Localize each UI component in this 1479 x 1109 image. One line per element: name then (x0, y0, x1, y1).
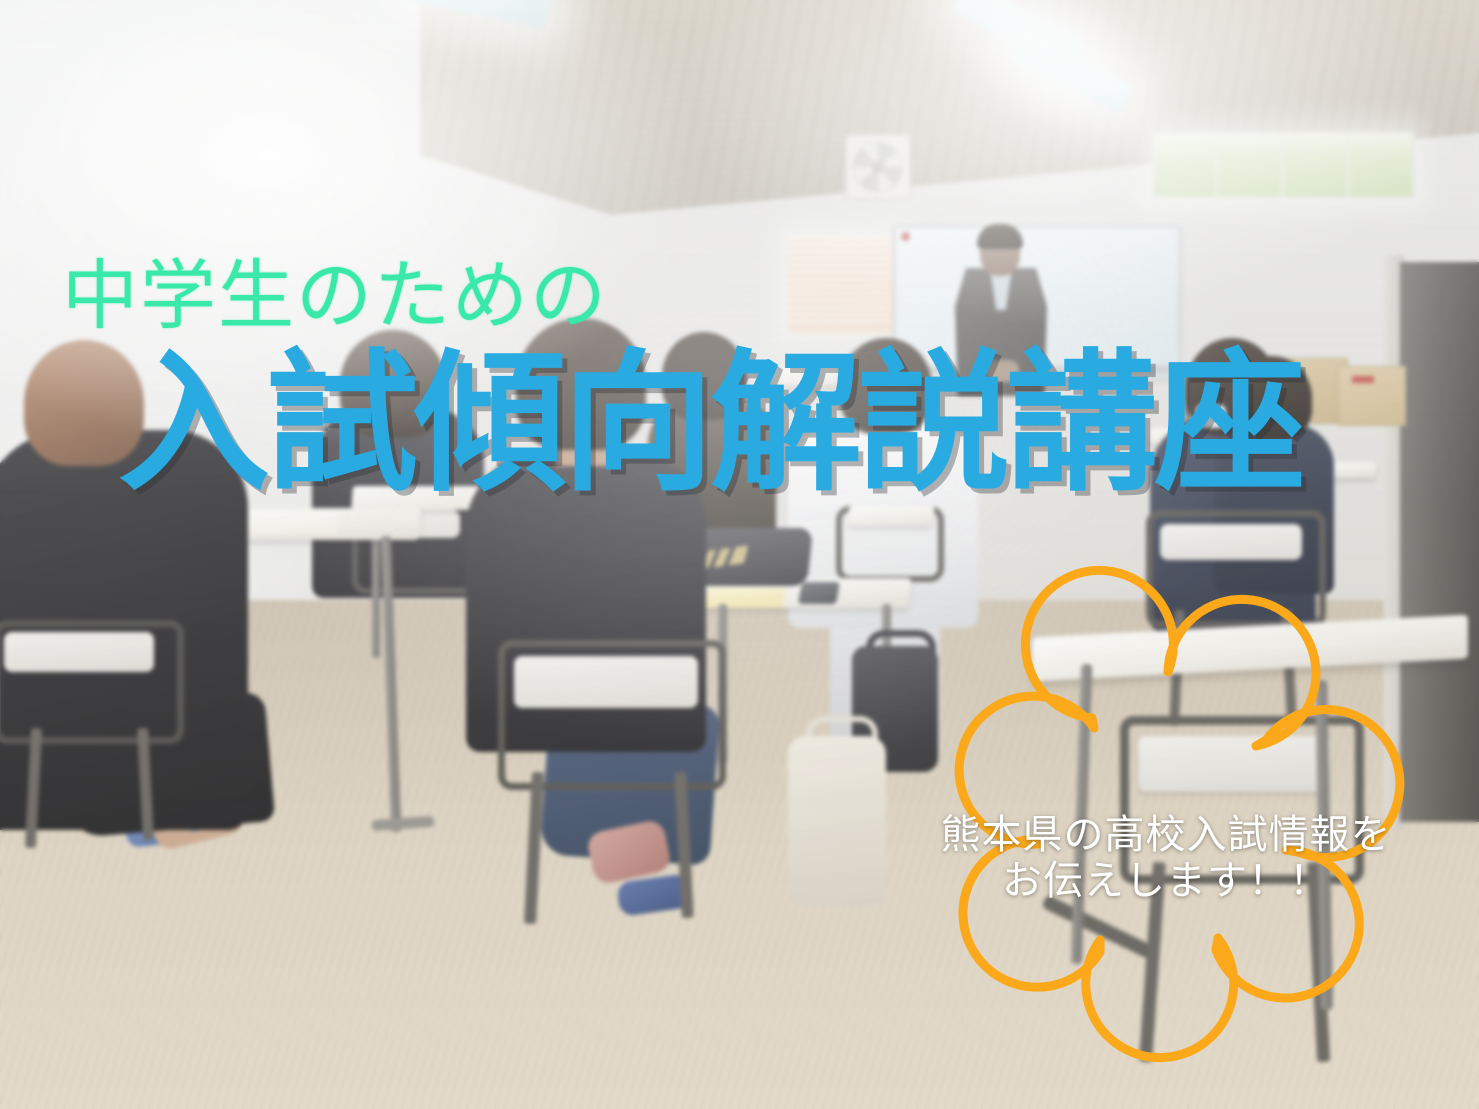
whiteboard-magnet-icon (901, 232, 910, 241)
cardboard-box (1338, 366, 1406, 426)
notebook-paper (704, 588, 786, 608)
folding-chair-seat (514, 656, 698, 708)
callout-text: 熊本県の高校入試情報を お伝えします！！ (906, 812, 1426, 905)
poster-subtitle: 中学生のための (62, 258, 608, 334)
high-window (1152, 131, 1415, 199)
poster-canvas: 中学生のための 入試傾向解説講座 熊本県の高校入試情報を お伝えします！！ (0, 0, 1479, 1109)
window-blind (788, 236, 890, 325)
flower-callout: 熊本県の高校入試情報を お伝えします！！ (906, 636, 1426, 1076)
exhaust-fan-icon (852, 141, 904, 193)
folding-chair-seat (4, 632, 154, 672)
poster-headline: 入試傾向解説講座 (118, 348, 1302, 500)
box-label (1352, 376, 1374, 383)
folding-chair-seat (1160, 524, 1302, 560)
cream-tote-bag (788, 736, 886, 906)
smartphone-icon (798, 582, 840, 604)
